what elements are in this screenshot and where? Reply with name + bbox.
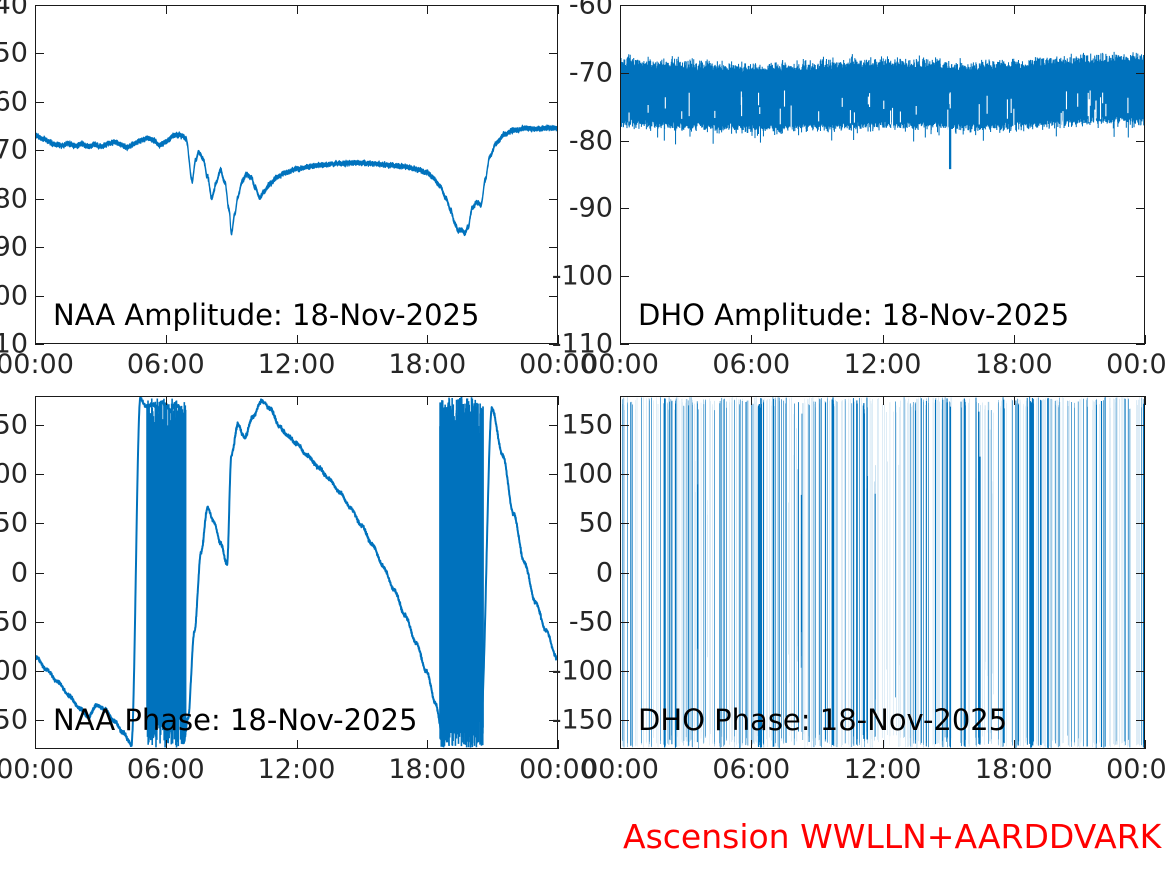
naa-phase-title: NAA Phase: 18-Nov-2025 bbox=[53, 706, 417, 735]
y-tick-mark bbox=[620, 73, 629, 74]
x-tick-mark bbox=[751, 335, 752, 344]
y-tick-mark bbox=[549, 102, 558, 103]
y-tick-label: -150 bbox=[0, 706, 28, 733]
x-tick-mark bbox=[1014, 5, 1015, 14]
y-tick-mark bbox=[35, 247, 44, 248]
y-tick-label: -60 bbox=[569, 0, 613, 19]
y-tick-label: -100 bbox=[0, 282, 28, 309]
naa-amplitude-trace bbox=[36, 6, 557, 343]
x-tick-mark bbox=[1014, 740, 1015, 749]
axes-naa-phase bbox=[35, 396, 558, 749]
y-tick-mark bbox=[549, 247, 558, 248]
x-tick-mark bbox=[751, 740, 752, 749]
dho-amplitude-title: DHO Amplitude: 18-Nov-2025 bbox=[638, 301, 1069, 330]
x-tick-mark bbox=[1014, 335, 1015, 344]
y-tick-mark bbox=[620, 671, 629, 672]
y-tick-mark bbox=[35, 199, 44, 200]
y-tick-label: -70 bbox=[569, 59, 613, 86]
x-tick-mark bbox=[166, 5, 167, 14]
x-tick-mark bbox=[883, 740, 884, 749]
naa-amplitude-title: NAA Amplitude: 18-Nov-2025 bbox=[53, 301, 479, 330]
y-tick-mark bbox=[549, 425, 558, 426]
y-tick-mark bbox=[620, 344, 629, 345]
x-tick-mark bbox=[620, 740, 621, 749]
station-network-label: Ascension WWLLN+AARDDVARK bbox=[623, 820, 1161, 853]
x-tick-mark bbox=[427, 5, 428, 14]
y-tick-label: -100 bbox=[552, 263, 613, 290]
x-tick-label: 00:00 bbox=[1106, 351, 1167, 378]
x-tick-mark bbox=[35, 335, 36, 344]
y-tick-mark bbox=[620, 141, 629, 142]
panel-dho-phase: DHO Phase: 18-Nov-2025 150100500-50-100-… bbox=[620, 396, 1145, 749]
y-tick-label: 50 bbox=[579, 510, 613, 537]
x-tick-mark bbox=[1014, 396, 1015, 405]
y-tick-label: -60 bbox=[0, 88, 28, 115]
y-tick-mark bbox=[1136, 720, 1145, 721]
x-tick-label: 18:00 bbox=[388, 351, 466, 378]
y-tick-mark bbox=[1136, 344, 1145, 345]
y-tick-mark bbox=[35, 296, 44, 297]
y-tick-mark bbox=[549, 622, 558, 623]
x-tick-mark bbox=[883, 335, 884, 344]
y-tick-mark bbox=[549, 474, 558, 475]
y-tick-mark bbox=[549, 296, 558, 297]
y-tick-mark bbox=[35, 102, 44, 103]
y-tick-mark bbox=[1136, 276, 1145, 277]
y-tick-mark bbox=[620, 5, 629, 6]
y-tick-mark bbox=[1136, 5, 1145, 6]
y-tick-mark bbox=[620, 276, 629, 277]
y-tick-mark bbox=[35, 425, 44, 426]
x-tick-mark bbox=[558, 396, 559, 405]
x-tick-mark bbox=[166, 335, 167, 344]
y-tick-mark bbox=[620, 622, 629, 623]
x-tick-label: 12:00 bbox=[258, 351, 336, 378]
y-tick-mark bbox=[35, 622, 44, 623]
y-tick-mark bbox=[1136, 523, 1145, 524]
y-tick-mark bbox=[549, 53, 558, 54]
x-tick-label: 12:00 bbox=[258, 756, 336, 783]
x-tick-label: 06:00 bbox=[712, 756, 790, 783]
y-tick-mark bbox=[620, 208, 629, 209]
y-tick-mark bbox=[620, 523, 629, 524]
y-tick-mark bbox=[1136, 671, 1145, 672]
x-tick-label: 12:00 bbox=[844, 756, 922, 783]
y-tick-mark bbox=[620, 474, 629, 475]
y-tick-mark bbox=[1136, 622, 1145, 623]
panel-dho-amplitude: DHO Amplitude: 18-Nov-2025 -60-70-80-90-… bbox=[620, 5, 1145, 344]
x-tick-label: 06:00 bbox=[712, 351, 790, 378]
y-tick-mark bbox=[1136, 73, 1145, 74]
x-tick-label: 18:00 bbox=[388, 756, 466, 783]
y-tick-mark bbox=[35, 523, 44, 524]
x-tick-mark bbox=[297, 335, 298, 344]
x-tick-mark bbox=[1145, 396, 1146, 405]
y-tick-mark bbox=[549, 150, 558, 151]
x-tick-mark bbox=[427, 396, 428, 405]
x-tick-label: 00:00 bbox=[581, 756, 659, 783]
y-tick-label: 50 bbox=[0, 510, 28, 537]
x-tick-mark bbox=[1145, 335, 1146, 344]
x-tick-mark bbox=[427, 740, 428, 749]
y-tick-mark bbox=[1136, 573, 1145, 574]
axes-dho-amplitude bbox=[620, 5, 1145, 344]
x-tick-label: 18:00 bbox=[975, 756, 1053, 783]
y-tick-label: -90 bbox=[569, 195, 613, 222]
x-tick-mark bbox=[1145, 5, 1146, 14]
x-tick-label: 06:00 bbox=[127, 756, 205, 783]
y-tick-mark bbox=[549, 573, 558, 574]
y-tick-mark bbox=[35, 53, 44, 54]
y-tick-mark bbox=[620, 573, 629, 574]
y-tick-label: -80 bbox=[0, 185, 28, 212]
y-tick-label: 100 bbox=[561, 461, 613, 488]
x-tick-label: 00:00 bbox=[581, 351, 659, 378]
y-tick-label: -50 bbox=[0, 40, 28, 67]
y-tick-mark bbox=[35, 150, 44, 151]
panel-naa-amplitude: NAA Amplitude: 18-Nov-2025 -40-50-60-70-… bbox=[35, 5, 558, 344]
panel-naa-phase: NAA Phase: 18-Nov-2025 150100500-50-100-… bbox=[35, 396, 558, 749]
y-tick-label: -70 bbox=[0, 137, 28, 164]
y-tick-label: -150 bbox=[552, 706, 613, 733]
y-tick-label: -40 bbox=[0, 0, 28, 19]
x-tick-label: 00:00 bbox=[1106, 756, 1167, 783]
x-tick-mark bbox=[620, 396, 621, 405]
y-tick-mark bbox=[35, 474, 44, 475]
y-tick-label: -50 bbox=[0, 608, 28, 635]
dho-phase-title: DHO Phase: 18-Nov-2025 bbox=[638, 706, 1007, 735]
y-tick-mark bbox=[35, 573, 44, 574]
x-tick-mark bbox=[751, 5, 752, 14]
y-tick-label: 0 bbox=[11, 559, 28, 586]
y-tick-label: -80 bbox=[569, 127, 613, 154]
x-tick-label: 12:00 bbox=[844, 351, 922, 378]
x-tick-label: 00:00 bbox=[0, 756, 74, 783]
y-tick-mark bbox=[1136, 474, 1145, 475]
y-tick-mark bbox=[620, 425, 629, 426]
x-tick-mark bbox=[35, 740, 36, 749]
y-tick-label: 150 bbox=[0, 412, 28, 439]
y-tick-label: 100 bbox=[0, 461, 28, 488]
x-tick-mark bbox=[620, 5, 621, 14]
x-tick-mark bbox=[883, 396, 884, 405]
dho-amplitude-trace bbox=[621, 6, 1144, 343]
x-tick-mark bbox=[558, 5, 559, 14]
x-tick-mark bbox=[35, 5, 36, 14]
x-tick-mark bbox=[751, 396, 752, 405]
y-tick-label: -90 bbox=[0, 234, 28, 261]
y-tick-mark bbox=[1136, 425, 1145, 426]
axes-dho-phase bbox=[620, 396, 1145, 749]
y-tick-mark bbox=[35, 671, 44, 672]
y-tick-mark bbox=[35, 720, 44, 721]
dho-phase-trace bbox=[621, 397, 1144, 748]
x-tick-label: 00:00 bbox=[0, 351, 74, 378]
y-tick-label: -100 bbox=[0, 657, 28, 684]
x-tick-label: 06:00 bbox=[127, 351, 205, 378]
y-tick-mark bbox=[549, 5, 558, 6]
y-tick-label: 0 bbox=[596, 559, 613, 586]
naa-phase-trace bbox=[36, 397, 557, 748]
y-tick-label: -100 bbox=[552, 657, 613, 684]
y-tick-mark bbox=[549, 199, 558, 200]
y-tick-mark bbox=[35, 5, 44, 6]
y-tick-label: 150 bbox=[561, 412, 613, 439]
x-tick-mark bbox=[297, 5, 298, 14]
axes-naa-amplitude bbox=[35, 5, 558, 344]
x-tick-mark bbox=[297, 740, 298, 749]
y-tick-mark bbox=[620, 720, 629, 721]
x-tick-mark bbox=[620, 335, 621, 344]
y-tick-mark bbox=[549, 523, 558, 524]
x-tick-mark bbox=[427, 335, 428, 344]
y-tick-label: -50 bbox=[569, 608, 613, 635]
x-tick-mark bbox=[297, 396, 298, 405]
vlf-figure: NAA Amplitude: 18-Nov-2025 -40-50-60-70-… bbox=[0, 0, 1167, 875]
y-tick-mark bbox=[1136, 208, 1145, 209]
x-tick-mark bbox=[883, 5, 884, 14]
y-tick-mark bbox=[1136, 141, 1145, 142]
x-tick-label: 18:00 bbox=[975, 351, 1053, 378]
x-tick-mark bbox=[1145, 740, 1146, 749]
x-tick-mark bbox=[558, 740, 559, 749]
y-tick-mark bbox=[35, 344, 44, 345]
x-tick-mark bbox=[166, 396, 167, 405]
x-tick-mark bbox=[166, 740, 167, 749]
x-tick-mark bbox=[35, 396, 36, 405]
